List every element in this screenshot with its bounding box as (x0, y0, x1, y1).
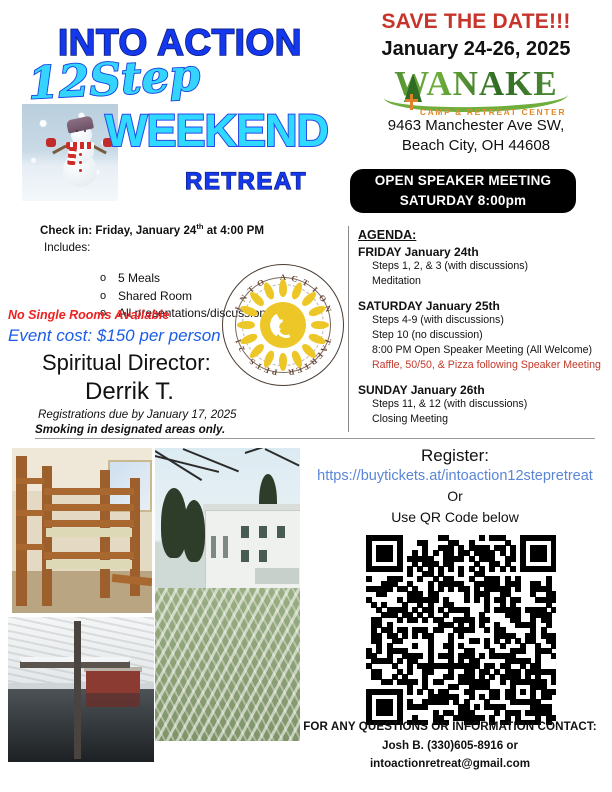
agenda-days: FRIDAY January 24thSteps 1, 2, & 3 (with… (358, 245, 608, 427)
save-the-date-heading: SAVE THE DATE!!! (352, 10, 600, 34)
agenda-item: Closing Meeting (372, 412, 608, 427)
logo-text-char: O (317, 293, 329, 304)
register-title: Register: (305, 446, 605, 466)
spiritual-director-name: Derrik T. (85, 378, 174, 406)
agenda-item: Steps 1, 2, & 3 (with discussions) (372, 259, 608, 274)
smoking-policy: Smoking in designated areas only. (35, 423, 225, 436)
title-retreat: RETREAT (185, 168, 307, 196)
flyer-page: INTO ACTION 12Step WEEKEND RETREAT SAVE … (0, 0, 612, 792)
agenda-day-heading: FRIDAY January 24th (358, 245, 608, 259)
logo-text-char: P (271, 367, 278, 378)
horizontal-divider (35, 438, 595, 439)
logo-text-char: N (237, 293, 249, 304)
bunk-beds-photo (12, 448, 152, 613)
register-section: Register: https://buytickets.at/intoacti… (305, 446, 605, 528)
venue-address: 9463 Manchester Ave SW, Beach City, OH 4… (352, 116, 600, 157)
vertical-divider (348, 226, 349, 432)
cross-icon-bar (405, 99, 418, 102)
banner-line-2: SATURDAY 8:00pm (400, 191, 527, 211)
contact-heading: FOR ANY QUESTIONS OR INFORMATION CONTACT… (300, 718, 600, 737)
register-url-link[interactable]: https://buytickets.at/intoaction12stepre… (305, 466, 605, 486)
title-12-step: 12Step (27, 49, 289, 107)
contact-footer: FOR ANY QUESTIONS OR INFORMATION CONTACT… (300, 718, 600, 774)
open-speaker-meeting-banner: OPEN SPEAKER MEETING SATURDAY 8:00pm (350, 169, 576, 213)
agenda-item: 8:00 PM Open Speaker Meeting (All Welcom… (372, 343, 608, 358)
check-in-main: Check in: Friday, January 24 (40, 224, 196, 237)
agenda-section: AGENDA: FRIDAY January 24thSteps 1, 2, &… (358, 228, 608, 427)
register-or: Or (305, 486, 605, 507)
agenda-item: Raffle, 50/50, & Pizza following Speaker… (372, 358, 608, 373)
no-single-rooms-note: No Single Rooms Available (8, 308, 169, 322)
agenda-spacer (358, 373, 608, 382)
agenda-title: AGENDA: (358, 228, 608, 242)
address-line-1: 9463 Manchester Ave SW, (352, 116, 600, 136)
qr-instruction: Use QR Code below (305, 507, 605, 527)
event-cost: Event cost: $150 per person (8, 326, 221, 346)
logo-text-char: 2 (236, 345, 247, 354)
agenda-item: Meditation (372, 274, 608, 289)
into-action-sun-logo: INTO ACTION12 STEP RETREAT (222, 264, 344, 386)
spiritual-director-label: Spiritual Director: (42, 350, 211, 376)
sun-ray (279, 279, 287, 297)
check-in-info: Check in: Friday, January 24th at 4:00 P… (40, 222, 264, 237)
agenda-item: Step 10 (no discussion) (372, 328, 608, 343)
lodge-exterior-photo (155, 448, 300, 741)
address-line-2: Beach City, OH 44608 (352, 136, 600, 156)
title-block: INTO ACTION 12Step WEEKEND RETREAT (0, 0, 352, 210)
snowman-image (22, 104, 118, 201)
agenda-spacer (358, 289, 608, 298)
contact-phone: Josh B. (330)605-8916 or (300, 737, 600, 756)
includes-label: Includes: (44, 241, 90, 254)
banner-line-1: OPEN SPEAKER MEETING (375, 171, 552, 191)
registration-deadline: Registrations due by January 17, 2025 (38, 408, 237, 421)
wanake-logo: WANAKE CAMP & RETREAT CENTER (378, 66, 574, 116)
agenda-item: Steps 4-9 (with discussions) (372, 313, 608, 328)
cross-pond-winter-photo (8, 617, 154, 762)
agenda-day-heading: SATURDAY January 25th (358, 299, 608, 313)
qr-code[interactable] (366, 535, 556, 725)
logo-text-char: R (287, 367, 295, 378)
title-weekend: WEEKEND (105, 108, 328, 153)
check-in-time: at 4:00 PM (203, 224, 264, 237)
agenda-day-heading: SUNDAY January 26th (358, 383, 608, 397)
agenda-item: Steps 11, & 12 (with discussions) (372, 397, 608, 412)
event-dates: January 24-26, 2025 (352, 38, 600, 61)
contact-email: intoactionretreat@gmail.com (300, 755, 600, 774)
sun-ray (237, 321, 255, 329)
pine-tree-icon (404, 74, 422, 102)
